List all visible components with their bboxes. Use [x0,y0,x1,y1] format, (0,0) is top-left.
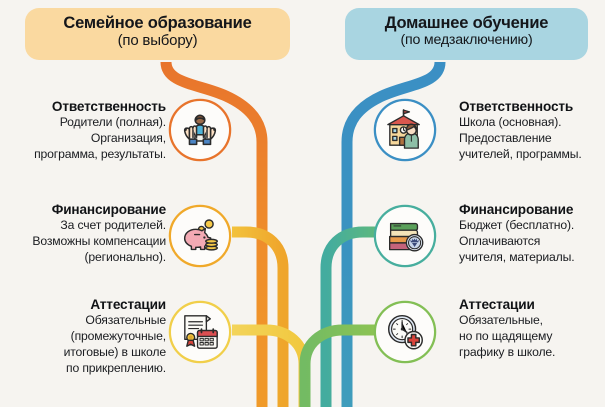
right-item-2-heading: Финансирование [459,202,605,217]
left-item-1-line-3: программа, результаты. [6,147,166,163]
left-item-2-heading: Финансирование [6,202,166,217]
right-item-3-heading: Аттестации [459,297,605,312]
left-item-3-body: Обязательные (промежуточные, итоговые) в… [6,313,166,376]
school-building-teacher-icon [376,101,434,159]
hands-holding-child-icon [171,101,229,159]
left-item-2-line-1: За счет родителей. [6,218,166,234]
right-item-2-body: Бюджет (бесплатно). Оплачиваются учителя… [459,218,605,266]
left-item-1-line-1: Родители (полная). [6,115,166,131]
right-item-2: Финансирование Бюджет (бесплатно). Оплач… [459,202,605,266]
right-item-2-line-2: Оплачиваются [459,234,605,250]
right-item-2-line-3: учителя, материалы. [459,250,605,266]
books-state-seal-icon [376,207,434,265]
left-item-2-line-3: (регионально). [6,250,166,266]
header-pill-home-schooling: Домашнее обучение (по медзаключению) [345,8,588,60]
left-item-3-line-1: Обязательные [6,313,166,329]
right-item-3-body: Обязательные, но по щадящему графику в ш… [459,313,605,361]
left-item-3-line-3: итоговые) в школе [6,345,166,361]
left-item-1-line-2: Организация, [6,131,166,147]
right-item-1-line-2: Предоставление [459,131,605,147]
left-item-1-body: Родители (полная). Организация, программ… [6,115,166,163]
header-left-title: Семейное образование [35,14,280,32]
right-item-1-line-1: Школа (основная). [459,115,605,131]
left-item-3-heading: Аттестации [6,297,166,312]
header-right-title: Домашнее обучение [355,14,578,32]
left-item-1: Ответственность Родители (полная). Орган… [6,99,166,163]
certificate-calendar-icon [171,303,229,361]
left-item-3: Аттестации Обязательные (промежуточные, … [6,297,166,376]
left-item-2-body: За счет родителей. Возможны компенсации … [6,218,166,266]
header-right-subtitle: (по медзаключению) [355,33,578,49]
infographic-canvas: Семейное образование (по выбору) Домашне… [0,0,605,407]
left-item-3-line-2: (промежуточные, [6,329,166,345]
right-item-2-line-1: Бюджет (бесплатно). [459,218,605,234]
right-item-3-line-3: графику в школе. [459,345,605,361]
header-left-subtitle: (по выбору) [35,33,280,50]
left-item-3-line-4: по прикреплению. [6,361,166,377]
right-item-3-line-2: но по щадящему [459,329,605,345]
clock-medical-cross-icon [376,303,434,361]
right-item-1: Ответственность Школа (основная). Предос… [459,99,605,163]
header-pill-family-education: Семейное образование (по выбору) [25,8,290,60]
right-item-3-line-1: Обязательные, [459,313,605,329]
right-item-3: Аттестации Обязательные, но по щадящему … [459,297,605,361]
right-item-1-heading: Ответственность [459,99,605,114]
left-item-2: Финансирование За счет родителей. Возмож… [6,202,166,266]
left-item-2-line-2: Возможны компенсации [6,234,166,250]
piggy-bank-coins-icon [171,207,229,265]
right-item-1-line-3: учителей, программы. [459,147,605,163]
right-item-1-body: Школа (основная). Предоставление учителе… [459,115,605,163]
left-item-1-heading: Ответственность [6,99,166,114]
